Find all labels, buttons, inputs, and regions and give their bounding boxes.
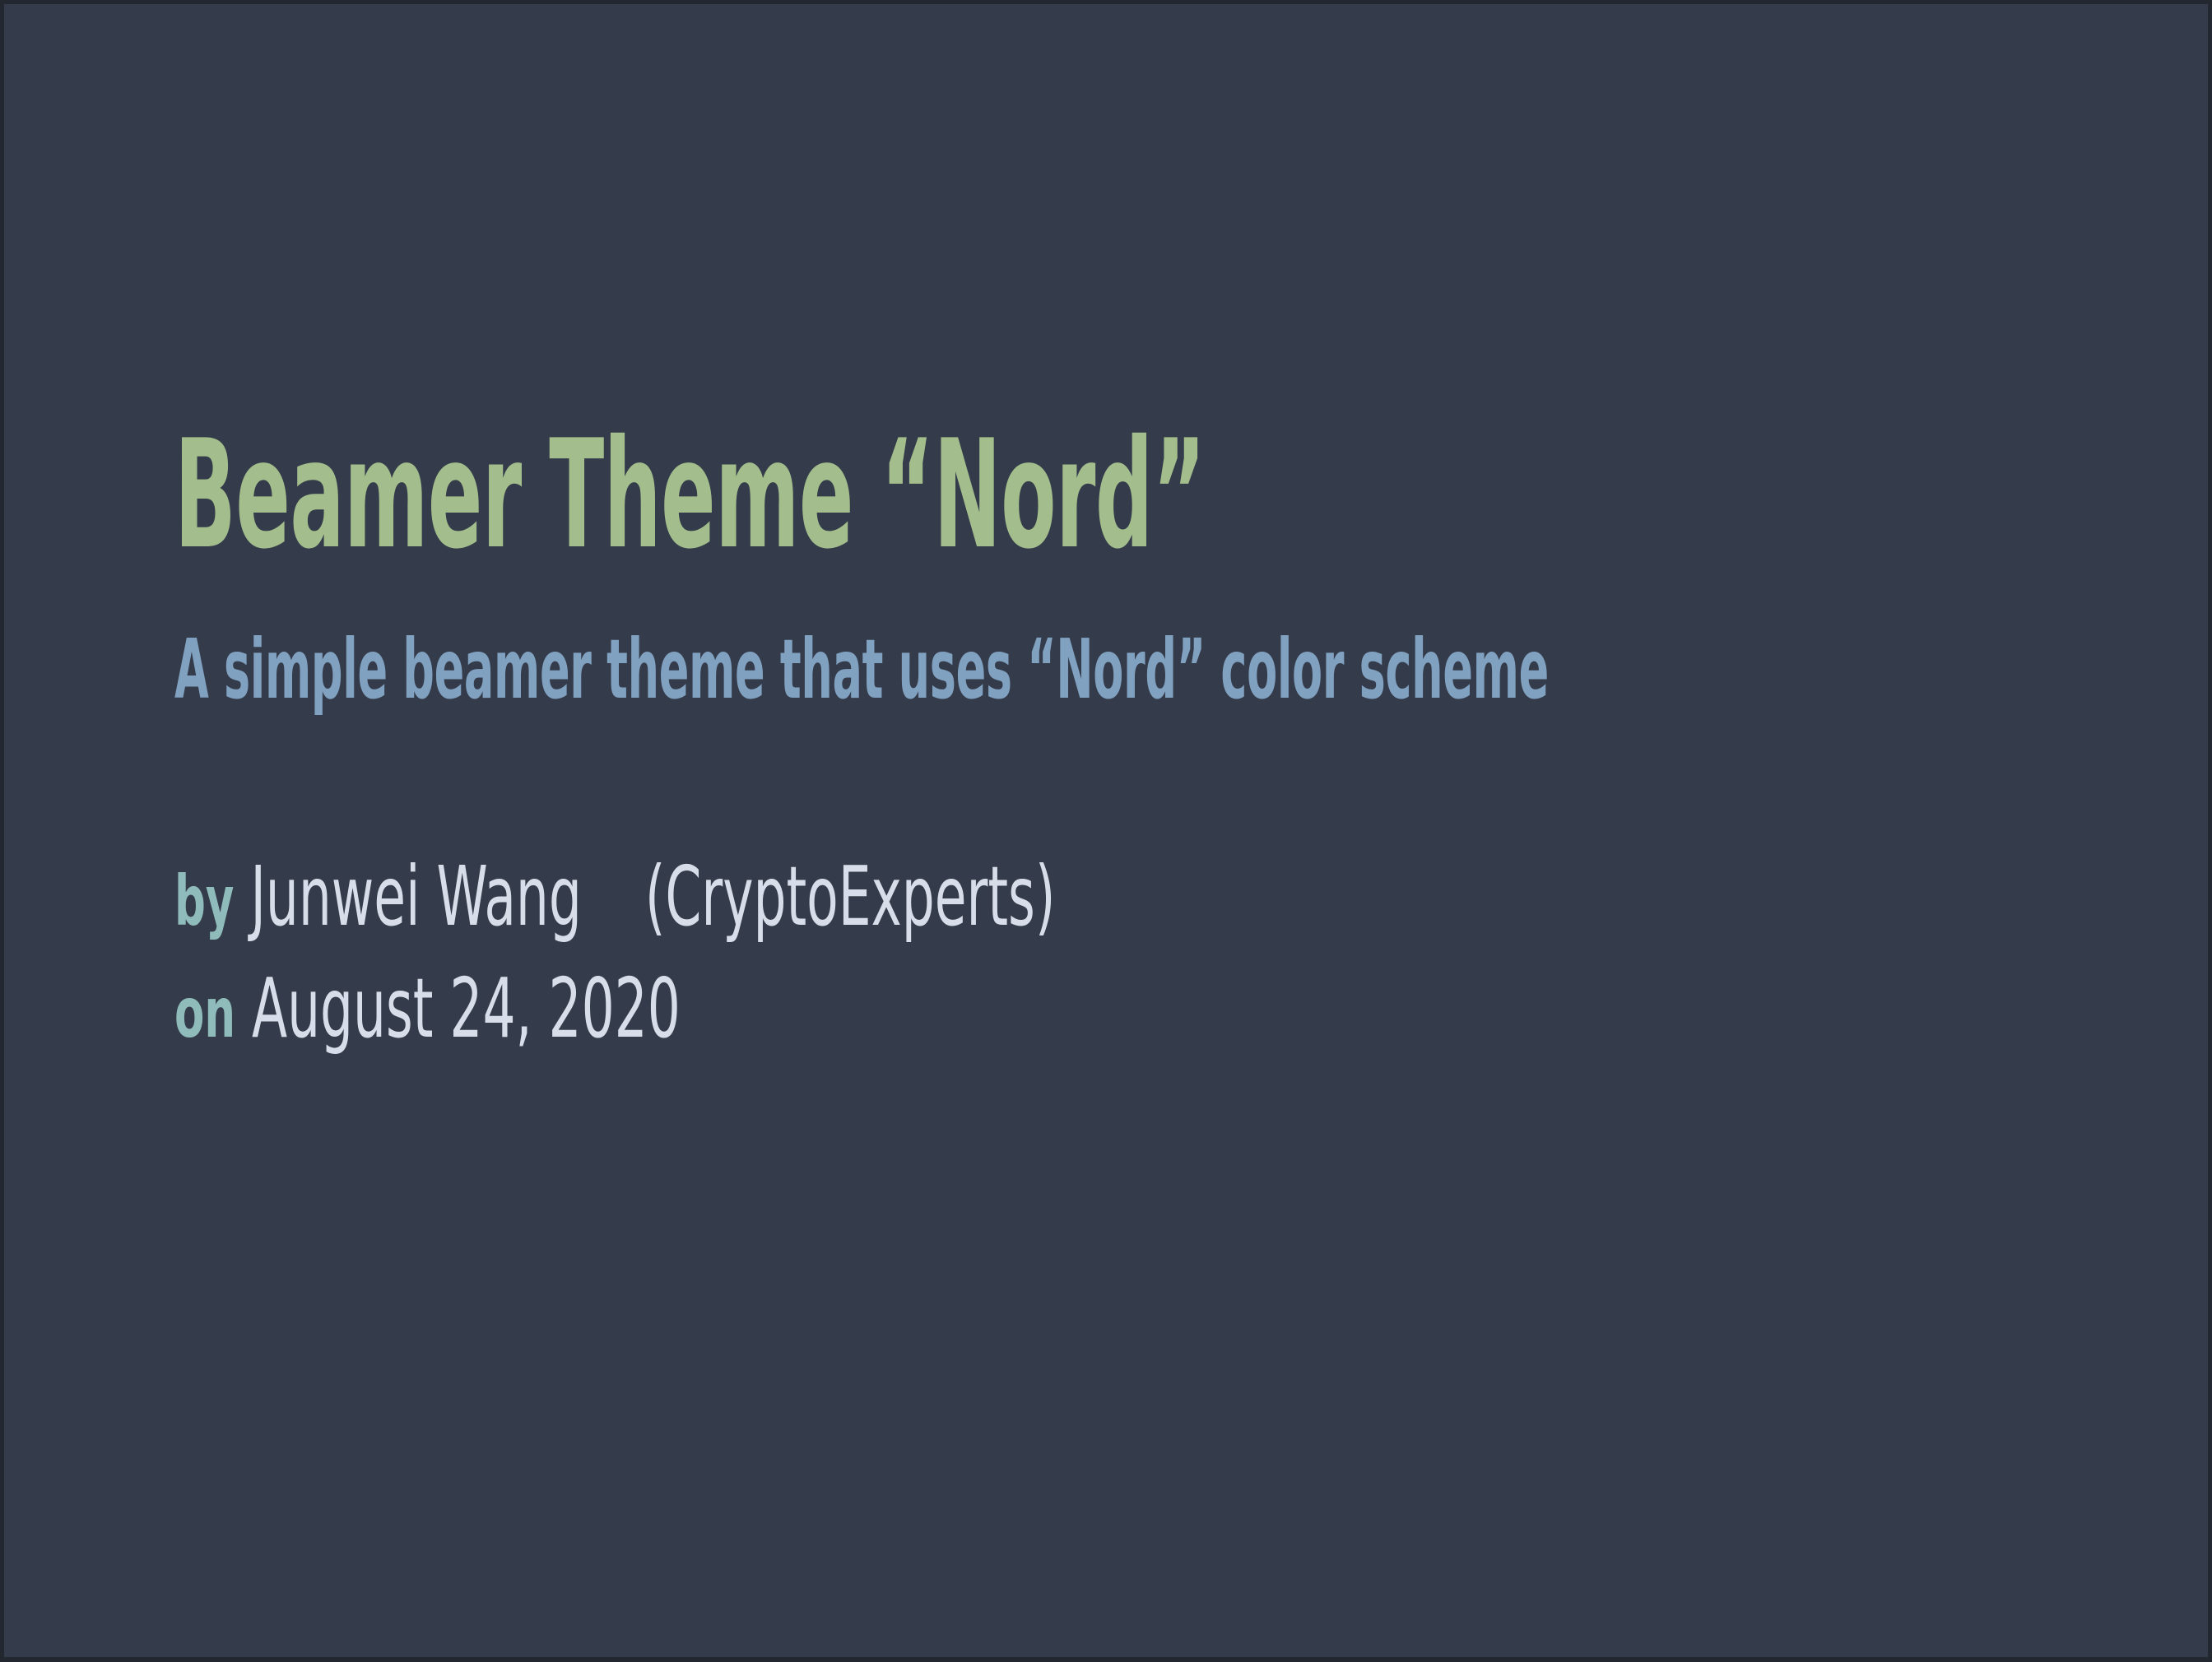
author-name: Junwei Wang — [250, 848, 581, 945]
page-title: Beamer Theme “Nord” — [174, 420, 1310, 569]
title-page-block: Beamer Theme “Nord” A simple beamer them… — [174, 420, 2067, 1050]
presentation-slide: Beamer Theme “Nord” A simple beamer them… — [0, 0, 2212, 1662]
author-affiliation: (CryptoExperts) — [645, 848, 1056, 945]
date-line: on August 24, 2020 — [174, 968, 1499, 1050]
subtitle-meta-spacer — [174, 711, 2067, 856]
page-subtitle: A simple beamer theme that uses “Nord” c… — [174, 629, 1310, 711]
author-line: by Junwei Wang(CryptoExperts) — [174, 856, 1499, 938]
date-value: August 24, 2020 — [252, 960, 681, 1056]
author-label: by — [174, 861, 234, 941]
date-label: on — [174, 973, 235, 1053]
